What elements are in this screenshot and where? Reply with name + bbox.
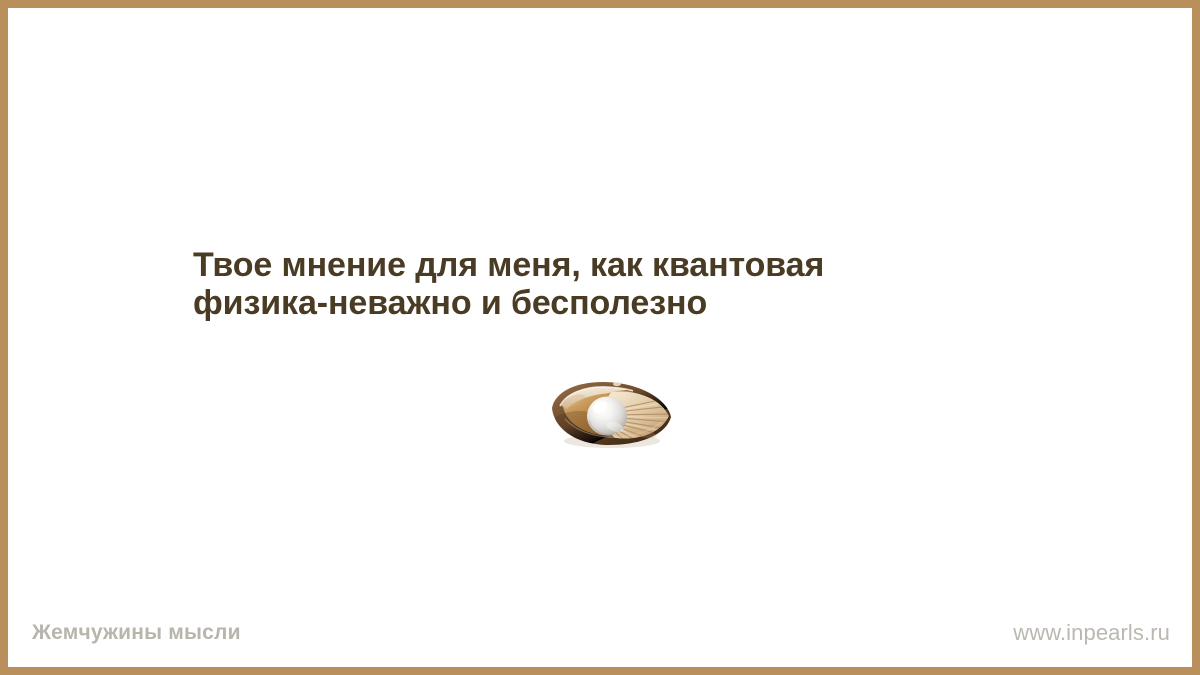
footer-brand-label: Жемчужины мысли	[32, 621, 241, 645]
quote-card: Твое мнение для меня, как квантовая физи…	[0, 0, 1200, 675]
oyster-shell-with-pearl-image	[545, 375, 677, 449]
quote-block: Твое мнение для меня, как квантовая физи…	[193, 246, 1039, 322]
footer-site-url[interactable]: www.inpearls.ru	[1013, 620, 1170, 646]
footer: Жемчужины мысли www.inpearls.ru	[8, 599, 1192, 667]
quote-text: Твое мнение для меня, как квантовая физи…	[193, 246, 1039, 322]
